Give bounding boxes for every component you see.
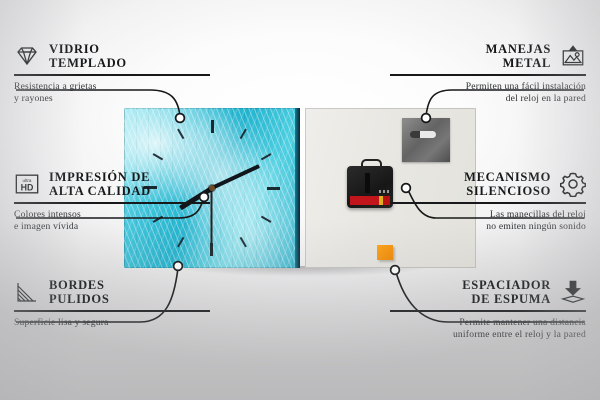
mechanism-hook xyxy=(361,159,382,170)
feature-impresion-alta-calidad: ultra HD IMPRESIÓN DE ALTA CALIDAD Color… xyxy=(14,170,210,233)
feature-header: VIDRIO TEMPLADO xyxy=(14,42,210,70)
feature-title-line2: SILENCIOSO xyxy=(466,184,551,198)
glass-edge xyxy=(295,108,300,268)
foam-spacer-icon xyxy=(560,279,586,305)
feature-description: Resistencia a grietas y rayones xyxy=(14,81,210,106)
feature-title-line2: ALTA CALIDAD xyxy=(49,184,151,198)
feature-title-line1: MECANISMO xyxy=(464,170,551,184)
gear-icon xyxy=(560,171,586,197)
feature-description: Las manecillas del reloj no emiten ningú… xyxy=(390,209,586,234)
feature-description: Permite mantener una distancia uniforme … xyxy=(390,317,586,342)
divider xyxy=(390,310,586,312)
silent-clock-mechanism xyxy=(347,166,393,208)
feature-description: Permiten una fácil instalación del reloj… xyxy=(390,81,586,106)
hanger-slot xyxy=(410,131,436,138)
ultra-hd-badge-icon: ultra HD xyxy=(14,171,40,197)
feature-title-line2: PULIDOS xyxy=(49,292,109,306)
mechanism-label xyxy=(350,196,390,205)
feature-mecanismo-silencioso: MECANISMO SILENCIOSO Las manecillas del … xyxy=(390,170,586,233)
feature-title-line1: ESPACIADOR xyxy=(462,278,551,292)
diamond-icon xyxy=(14,43,40,69)
feature-title-line1: VIDRIO xyxy=(49,42,100,56)
feature-header: ESPACIADOR DE ESPUMA xyxy=(390,278,586,306)
metal-hanger-plate xyxy=(402,118,450,162)
divider xyxy=(390,74,586,76)
divider xyxy=(14,74,210,76)
mechanism-contacts xyxy=(379,190,389,193)
divider xyxy=(14,202,210,204)
svg-text:HD: HD xyxy=(21,183,34,193)
feature-description: Superficie lisa y segura xyxy=(14,317,210,329)
feature-header: BORDES PULIDOS xyxy=(14,278,210,306)
feature-title-line1: MANEJAS xyxy=(486,42,551,56)
feature-title-line2: DE ESPUMA xyxy=(471,292,551,306)
feature-header: MECANISMO SILENCIOSO xyxy=(390,170,586,198)
divider xyxy=(390,202,586,204)
mechanism-battery-slot xyxy=(365,173,370,193)
feature-title-line2: METAL xyxy=(503,56,551,70)
feature-vidrio-templado: VIDRIO TEMPLADO Resistencia a grietas y … xyxy=(14,42,210,105)
divider xyxy=(14,310,210,312)
feature-manejas-metal: MANEJAS METAL Permiten una fácil instala… xyxy=(390,42,586,105)
feature-bordes-pulidos: BORDES PULIDOS Superficie lisa y segura xyxy=(14,278,210,329)
infographic-canvas: VIDRIO TEMPLADO Resistencia a grietas y … xyxy=(0,0,600,400)
feature-title-line2: TEMPLADO xyxy=(49,56,127,70)
feature-espaciador-espuma: ESPACIADOR DE ESPUMA Permite mantener un… xyxy=(390,278,586,341)
feature-header: MANEJAS METAL xyxy=(390,42,586,70)
foam-spacer xyxy=(377,245,393,260)
feature-title-line1: BORDES xyxy=(49,278,105,292)
feature-title-line1: IMPRESIÓN DE xyxy=(49,170,150,184)
picture-hanger-icon xyxy=(560,43,586,69)
polished-edges-icon xyxy=(14,279,40,305)
feature-header: ultra HD IMPRESIÓN DE ALTA CALIDAD xyxy=(14,170,210,198)
feature-description: Colores intensos e imagen vívida xyxy=(14,209,210,234)
